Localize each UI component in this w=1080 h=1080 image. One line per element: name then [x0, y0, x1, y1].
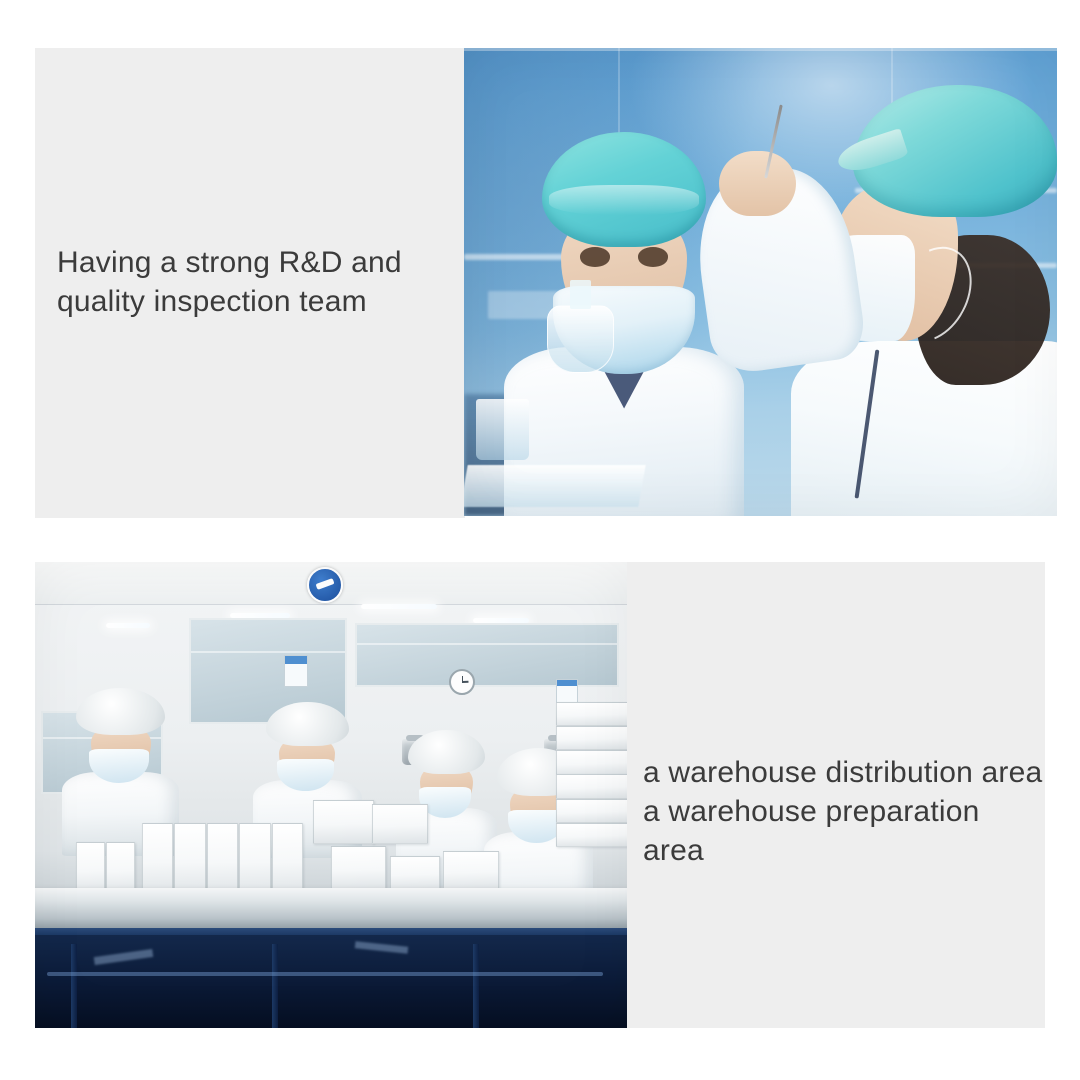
carton	[556, 799, 627, 823]
top-caption-text: Having a strong R&D and quality inspecti…	[57, 243, 457, 321]
carton	[556, 702, 627, 726]
warehouse-packing-photo	[35, 562, 627, 1028]
table-leg	[272, 944, 278, 1028]
ceiling-light	[106, 623, 150, 628]
flask-icon	[547, 305, 614, 373]
carton	[76, 842, 105, 895]
carton	[239, 823, 271, 895]
carton	[207, 823, 239, 895]
lab-team-photo	[464, 48, 1057, 516]
ceiling-light	[361, 604, 437, 609]
table-leg	[473, 944, 479, 1028]
hair-net-cap	[542, 132, 706, 247]
carton	[443, 851, 498, 890]
carton	[556, 774, 627, 798]
eye	[638, 247, 668, 266]
hair-net-cap	[853, 85, 1057, 217]
stainless-steel-table	[35, 888, 627, 930]
under-table-shadow	[35, 935, 627, 1028]
carton	[556, 726, 627, 750]
table-rail	[47, 972, 603, 976]
carton	[372, 804, 427, 843]
eye	[580, 247, 610, 266]
hair-net-cap	[266, 702, 349, 746]
carton	[174, 823, 206, 895]
table-leg	[71, 944, 77, 1028]
page-root: Having a strong R&D and quality inspecti…	[0, 0, 1080, 1080]
beaker-icon	[476, 399, 529, 460]
gloved-hand	[719, 151, 796, 217]
wall-seam	[464, 48, 1057, 51]
cleanroom-window	[355, 623, 619, 688]
carton	[272, 823, 304, 895]
hair-net-cap	[76, 688, 165, 736]
carton	[390, 856, 439, 891]
bottom-caption-text: a warehouse distribution area a warehous…	[643, 753, 1043, 870]
wall-poster	[284, 655, 308, 687]
hair-net-cap	[408, 730, 485, 774]
worker-left	[76, 688, 165, 828]
blue-circular-sign	[307, 567, 343, 603]
carton	[142, 823, 174, 895]
carton	[556, 750, 627, 774]
carton	[556, 823, 627, 847]
carton	[313, 800, 374, 844]
carton	[331, 846, 386, 890]
carton	[106, 842, 135, 895]
lab-tray	[464, 465, 646, 507]
carton-stack	[556, 702, 627, 888]
